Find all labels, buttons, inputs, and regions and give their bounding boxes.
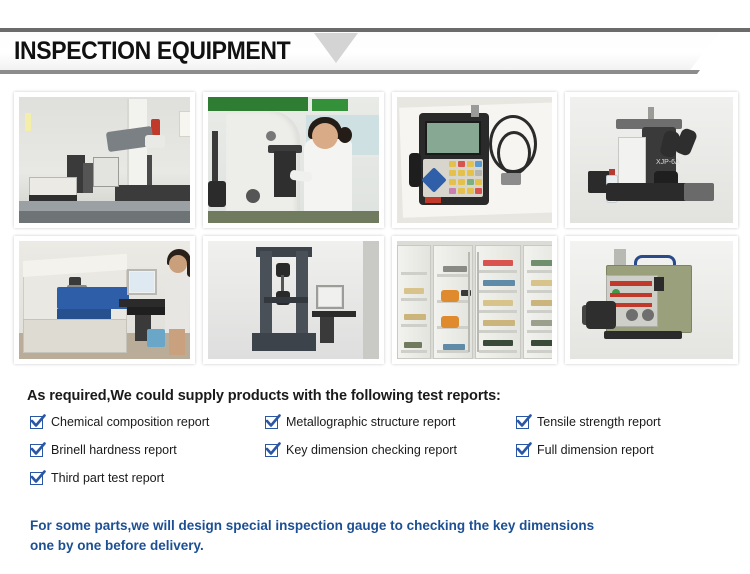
- cmm-post: [147, 155, 152, 187]
- operator-legs: [169, 329, 185, 355]
- machine-crosshead: [264, 297, 308, 303]
- note-line-2: one by one before delivery.: [30, 536, 730, 556]
- checkbox-checked-icon[interactable]: [516, 444, 529, 457]
- control-desk: [312, 311, 356, 317]
- checklist-label: Key dimension checking report: [286, 442, 457, 458]
- checklist-item-third-part-test[interactable]: Third part test report: [30, 470, 164, 486]
- photo-metallurgical-microscope[interactable]: XJP-6A: [565, 92, 738, 228]
- cabinet-2: [433, 245, 473, 359]
- banner-triangle-icon: [314, 33, 358, 63]
- detector-handle: [409, 153, 421, 187]
- probe-cable-loop-2: [497, 131, 531, 175]
- equipment-photo-grid: XJP-6A: [14, 92, 738, 372]
- photo-gauge-storage-cabinets[interactable]: [392, 236, 557, 364]
- checkbox-checked-icon[interactable]: [265, 444, 278, 457]
- panel-label-strip-1: [610, 281, 652, 286]
- photo-coordinate-measuring-machine[interactable]: [14, 92, 195, 228]
- wall-note-icon: [25, 113, 31, 131]
- checkbox-checked-icon[interactable]: [30, 416, 43, 429]
- checklist-label: Metallographic structure report: [286, 414, 456, 430]
- spectrometer-cabinet: [23, 319, 127, 353]
- detector-screen: [425, 121, 481, 155]
- machine-column-left: [260, 251, 272, 339]
- inspection-equipment-page: INSPECTION EQUIPMENT: [0, 0, 750, 574]
- reports-heading: As required,We could supply products wit…: [27, 388, 501, 404]
- computer-tower-2: [83, 163, 93, 193]
- panel-switch: [654, 277, 664, 291]
- checkbox-checked-icon[interactable]: [30, 444, 43, 457]
- operator-screen: [130, 272, 154, 292]
- checklist-item-full-dimension[interactable]: Full dimension report: [516, 442, 654, 458]
- xray-tube-head: [586, 301, 616, 329]
- cabinet-1: [397, 245, 431, 359]
- banner-top-rule: [0, 28, 750, 32]
- checklist-item-brinell-hardness[interactable]: Brinell hardness report: [30, 442, 177, 458]
- technician-head: [312, 123, 338, 149]
- cmm-scene: [19, 97, 190, 223]
- printer: [29, 177, 77, 197]
- microscope-model-label: XJP-6A: [656, 159, 680, 166]
- floor-stand-pole: [212, 131, 218, 183]
- checklist-row-1: Chemical composition report Metallograph…: [0, 414, 750, 442]
- computer-monitor: [93, 157, 119, 187]
- panel-label-strip-2: [610, 293, 652, 297]
- tensile-machine-scene: [208, 241, 379, 359]
- operator-ponytail: [187, 259, 194, 277]
- photo-hardness-tester[interactable]: [203, 92, 384, 228]
- waste-bin: [147, 329, 165, 347]
- checklist-label: Tensile strength report: [537, 414, 661, 430]
- photo-portable-xray-detector[interactable]: [565, 236, 738, 364]
- section-banner: INSPECTION EQUIPMENT: [0, 28, 750, 74]
- checklist-row-2: Brinell hardness report Key dimension ch…: [0, 442, 750, 470]
- checklist-label: Full dimension report: [537, 442, 654, 458]
- control-screen: [319, 288, 341, 306]
- spectrometer-scene: [19, 241, 190, 359]
- background-wall: [363, 241, 379, 359]
- ultrasonic-probe: [501, 173, 521, 185]
- lab-floor: [208, 211, 379, 223]
- tester-dial: [266, 131, 276, 141]
- checklist-label: Brinell hardness report: [51, 442, 177, 458]
- panel-knob-a: [626, 309, 638, 321]
- panel-label-strip-3: [610, 303, 652, 307]
- hardness-tester-scene: [208, 97, 379, 223]
- wall-chart-icon: [179, 111, 193, 137]
- banner-bottom-rule: [0, 70, 700, 74]
- microscope-eyepiece-right: [674, 127, 699, 157]
- detector-carry-handle: [634, 255, 676, 265]
- detector-base-frame: [604, 331, 682, 339]
- note-line-1: For some parts,we will design special in…: [30, 516, 730, 536]
- checklist-item-metallographic-structure[interactable]: Metallographic structure report: [265, 414, 456, 430]
- checklist-label: Third part test report: [51, 470, 164, 486]
- photo-spectrometer[interactable]: [14, 236, 195, 364]
- checkbox-checked-icon[interactable]: [516, 416, 529, 429]
- microscope-scene: XJP-6A: [570, 97, 733, 223]
- xray-detector-scene: [570, 241, 733, 359]
- accessory-tray: [684, 183, 714, 201]
- checkbox-checked-icon[interactable]: [265, 416, 278, 429]
- photo-tensile-testing-machine[interactable]: [203, 236, 384, 364]
- floor-stand-base: [208, 181, 226, 207]
- tester-knob: [246, 189, 260, 203]
- operator-body: [165, 271, 189, 333]
- checklist-row-3: Third part test report: [0, 470, 750, 498]
- technician-hair-bun: [338, 127, 352, 143]
- green-wall-panel-2: [312, 99, 348, 111]
- cabinet-3: [475, 245, 521, 359]
- checklist-item-key-dimension-checking[interactable]: Key dimension checking report: [265, 442, 457, 458]
- photo-ultrasonic-flaw-detector[interactable]: [392, 92, 557, 228]
- photo-row-1: XJP-6A: [14, 92, 738, 228]
- control-pc: [320, 317, 334, 343]
- checklist-label: Chemical composition report: [51, 414, 209, 430]
- cmm-arm-tip: [145, 135, 165, 148]
- page-title: INSPECTION EQUIPMENT: [14, 34, 290, 68]
- report-checklist: Chemical composition report Metallograph…: [0, 414, 750, 498]
- checklist-item-tensile-strength[interactable]: Tensile strength report: [516, 414, 661, 430]
- checklist-item-chemical-composition[interactable]: Chemical composition report: [30, 414, 209, 430]
- photo-row-2: [14, 236, 738, 364]
- green-wall-panel: [208, 97, 308, 111]
- operator-head: [169, 255, 187, 273]
- machine-column-right: [296, 251, 308, 339]
- special-gauge-note: For some parts,we will design special in…: [30, 516, 730, 556]
- cabinet-scene: [397, 241, 552, 359]
- machine-base: [252, 333, 316, 351]
- flaw-detector-scene: [397, 97, 552, 223]
- bench-front: [19, 211, 190, 223]
- detector-red-button: [425, 197, 441, 203]
- panel-knob-b: [642, 309, 654, 321]
- checkbox-checked-icon[interactable]: [30, 472, 43, 485]
- detector-connector: [471, 105, 479, 117]
- cabinet-4: [523, 245, 557, 359]
